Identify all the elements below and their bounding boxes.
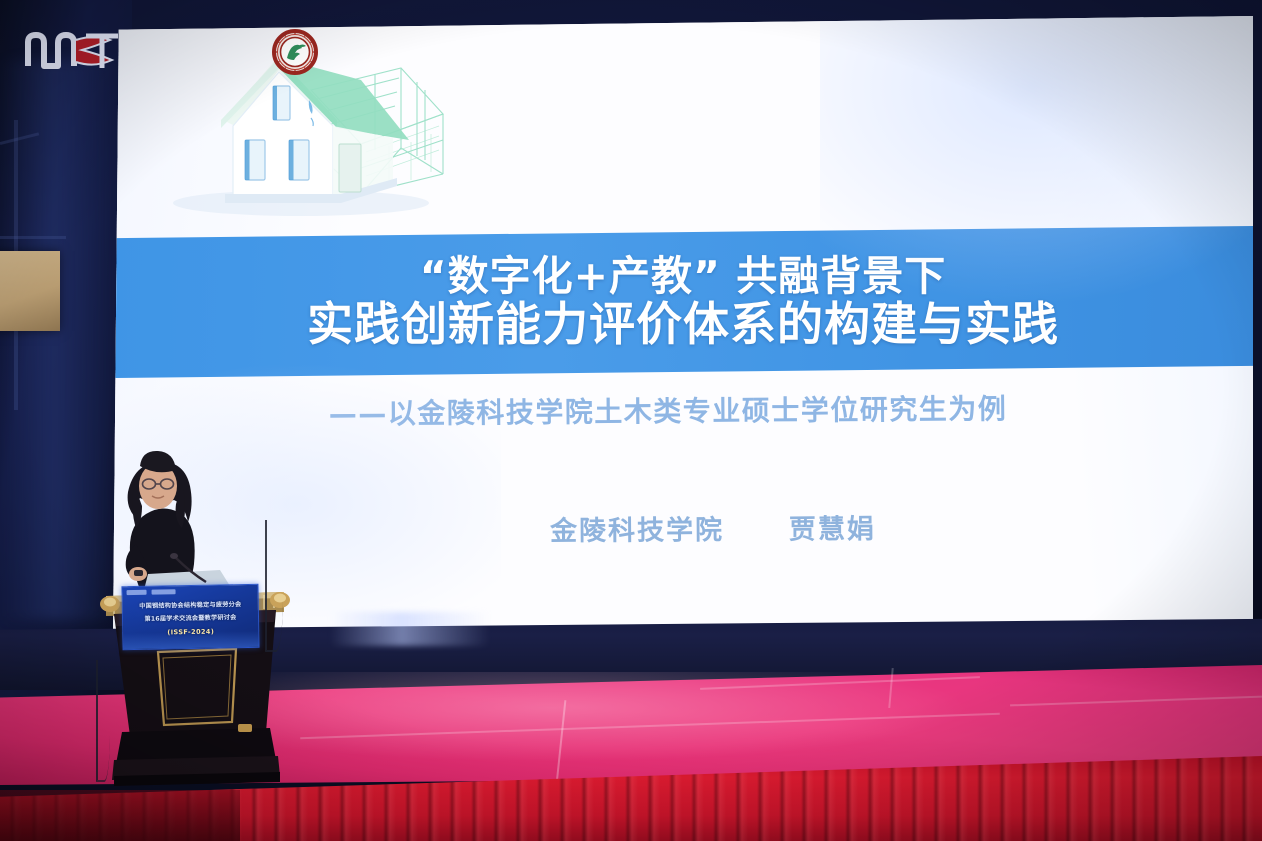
audio-cable <box>265 520 283 652</box>
riser-reflection <box>330 612 490 646</box>
slide-title-band: “数字化+产教” 共融背景下 实践创新能力评价体系的构建与实践 <box>113 226 1253 378</box>
sign-chip-icon <box>127 590 147 595</box>
jinling-institute-seal-icon <box>274 31 316 73</box>
slide-title-line-2: 实践创新能力评价体系的构建与实践 <box>307 300 1059 348</box>
nust-logo-icon <box>24 30 120 72</box>
sign-logo-chips <box>127 589 176 595</box>
beige-wall-panel <box>0 251 60 331</box>
presenter-affiliation: 金陵科技学院 <box>550 515 724 547</box>
sign-wave-decoration <box>123 631 258 649</box>
podium-sign-line-2: 第16届学术交流会暨教学研讨会 <box>123 612 258 623</box>
slide-title-line-1: “数字化+产教” 共融背景下 <box>420 255 947 298</box>
sign-chip-icon <box>152 589 176 594</box>
house-wireframe-illustration <box>161 28 451 224</box>
podium-conference-sign: 中国钢结构协会结构稳定与疲劳分会 第16届学术交流会暨教学研讨会 (ISSF-2… <box>121 584 259 650</box>
presenter-name: 贾慧娟 <box>789 514 876 546</box>
house-illustration-icon <box>161 28 451 224</box>
power-cable <box>96 660 110 782</box>
speaker-figure <box>126 451 195 590</box>
podium-sign-line-1: 中国钢结构协会结构稳定与疲劳分会 <box>123 599 258 610</box>
conference-photo: 中 国 钢结构 Association <box>0 0 1262 841</box>
slide-subtitle: ——以金陵科技学院土木类专业硕士学位研究生为例 <box>113 386 1223 435</box>
truss-beam <box>0 236 66 239</box>
